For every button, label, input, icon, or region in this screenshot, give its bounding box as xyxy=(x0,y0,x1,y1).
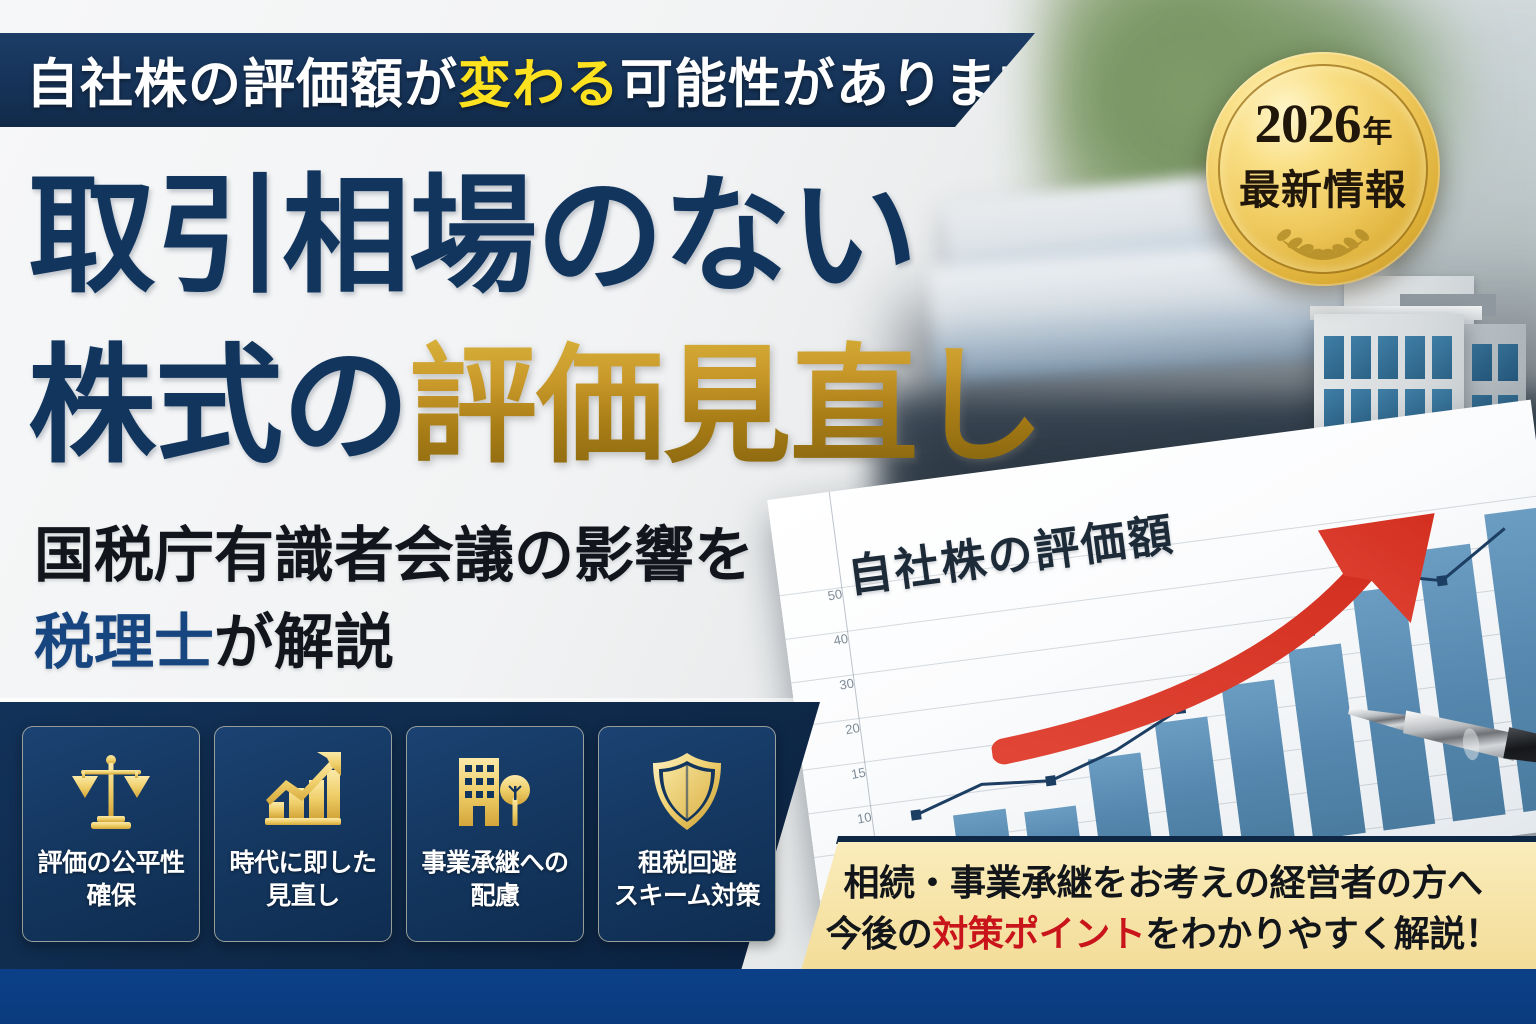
badge-year: 2026 年 xyxy=(1255,96,1392,151)
top-ribbon-text: 自社株の評価額が変わる可能性があります xyxy=(26,42,1052,118)
badge-year-suffix: 年 xyxy=(1363,118,1392,148)
feature-label: 事業承継への 配慮 xyxy=(421,847,568,913)
subtitle-line-1: 国税庁有識者会議の影響を xyxy=(34,512,754,599)
bottom-accent-strip xyxy=(0,969,1536,1024)
feature-card-succession[interactable]: 事業承継への 配慮 xyxy=(406,726,584,942)
headline-line-1: 取引相場のない xyxy=(28,152,1044,322)
subtitle-rest: が解説 xyxy=(214,609,394,676)
chart-ytick: 15 xyxy=(821,765,867,788)
ribbon-text-highlight: 変わる xyxy=(458,56,620,114)
subtitle-accent: 税理士 xyxy=(34,609,214,676)
cream-banner-line-2: 今後の対策ポイントをわかりやすく解説！ xyxy=(826,908,1501,959)
feature-label-line2: 配慮 xyxy=(470,882,519,910)
cream-line2-after: をわかりやすく解説！ xyxy=(1145,913,1500,954)
feature-label-line1: 時代に即した xyxy=(229,849,376,877)
balance-scales-icon xyxy=(68,749,154,835)
cream-line2-highlight: 対策ポイント xyxy=(932,913,1145,954)
building-tree-icon xyxy=(452,749,538,835)
year-badge-medal: 2026 年 最新情報 xyxy=(1206,52,1440,286)
feature-label-line1: 租税回避 xyxy=(638,849,736,877)
page-title: 取引相場のない 株式の評価見直し xyxy=(28,152,1044,492)
feature-label-line1: 評価の公平性 xyxy=(37,849,184,877)
chart-ytick: 30 xyxy=(809,675,855,698)
feature-list: 評価の公平性 確保 xyxy=(22,726,776,942)
subtitle: 国税庁有識者会議の影響を 税理士が解説 xyxy=(34,512,754,686)
banner-canvas: 自社株の評価額 50 40 30 20 15 10 5 0 xyxy=(0,0,1536,1024)
headline-line-2: 株式の評価見直し xyxy=(28,322,1044,492)
headline-line-2-gold: 評価見直し xyxy=(409,336,1044,478)
chart-ytick: 10 xyxy=(827,809,873,832)
ribbon-text-before: 自社株の評価額が xyxy=(26,56,458,114)
feature-card-tax-avoidance[interactable]: 租税回避 スキーム対策 xyxy=(598,726,776,942)
badge-year-number: 2026 xyxy=(1255,96,1361,151)
cream-line2-before: 今後の xyxy=(826,913,933,954)
feature-label: 時代に即した 見直し xyxy=(229,847,376,913)
chart-ytick: 20 xyxy=(815,720,861,743)
bar-chart-arrow-up-icon xyxy=(260,749,346,835)
laurel-wreath-icon xyxy=(1248,216,1398,264)
feature-card-fairness[interactable]: 評価の公平性 確保 xyxy=(22,726,200,942)
subtitle-line-2: 税理士が解説 xyxy=(34,599,754,686)
feature-card-modernization[interactable]: 時代に即した 見直し xyxy=(214,726,392,942)
chart-ytick: 40 xyxy=(803,631,849,654)
feature-label-line2: スキーム対策 xyxy=(614,882,760,910)
top-ribbon: 自社株の評価額が変わる可能性があります xyxy=(0,33,1035,127)
cream-banner-line-1: 相続・事業承継をお考えの経営者の方へ xyxy=(843,857,1482,908)
feature-label: 租税回避 スキーム対策 xyxy=(614,847,760,913)
feature-label: 評価の公平性 確保 xyxy=(37,847,184,913)
chart-ytick: 50 xyxy=(797,586,843,609)
shield-icon xyxy=(644,749,730,835)
feature-label-line2: 確保 xyxy=(86,882,135,910)
headline-line-2-navy: 株式の xyxy=(28,336,409,478)
feature-label-line1: 事業承継への xyxy=(421,849,568,877)
badge-subtitle: 最新情報 xyxy=(1239,156,1407,216)
cream-callout-banner: 相続・事業承継をお考えの経営者の方へ 今後の対策ポイントをわかりやすく解説！ xyxy=(790,842,1536,974)
feature-label-line2: 見直し xyxy=(266,882,340,910)
